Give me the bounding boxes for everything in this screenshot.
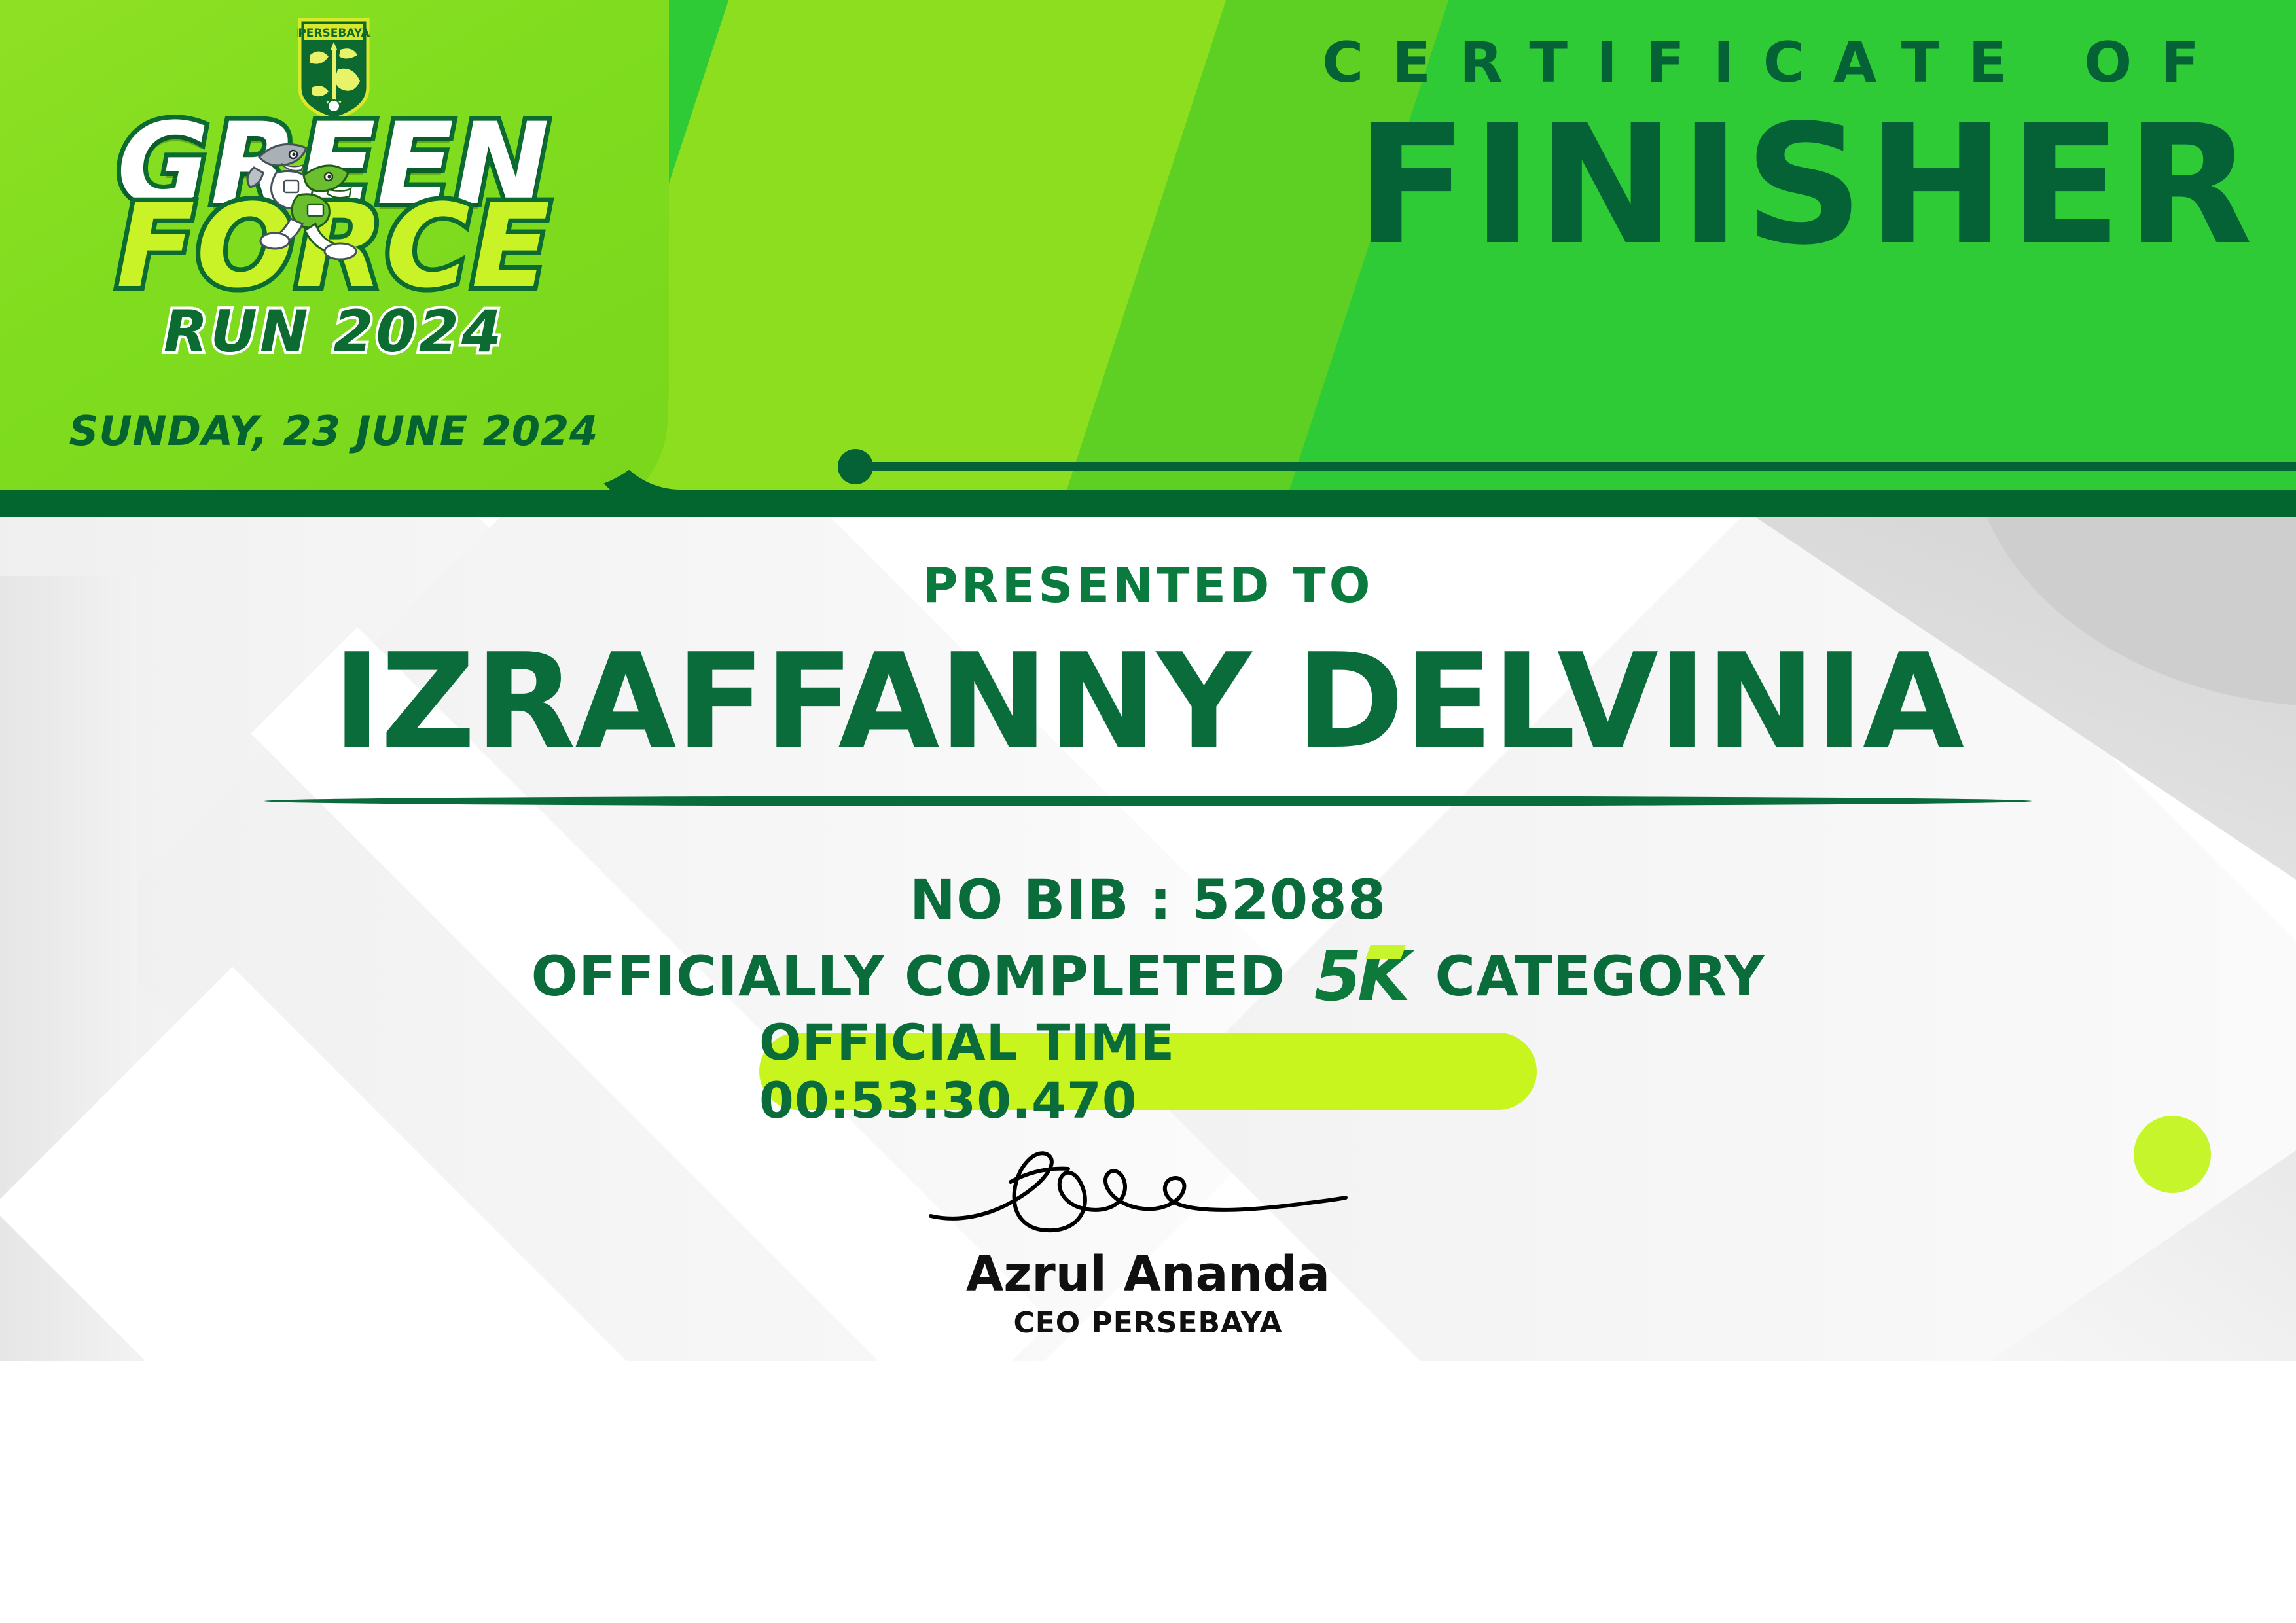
category-suffix-text: CATEGORY (1435, 944, 1765, 1008)
certificate-canvas: CERTIFICATE OF FINISHER PERSEBAYA GREEN … (0, 0, 2296, 1623)
completed-prefix-text: OFFICIALLY COMPLETED (531, 944, 1286, 1008)
header-banner: CERTIFICATE OF FINISHER PERSEBAYA GREEN … (0, 0, 2296, 517)
sponsor-footer (0, 1369, 2296, 1623)
bib-number-line: NO BIB : 52088 (0, 868, 2296, 932)
official-time-pill: OFFICIAL TIME 00:53:30.470 (759, 1033, 1537, 1110)
mascot-icon (230, 116, 381, 267)
presented-to-label: PRESENTED TO (0, 558, 2296, 614)
category-line: OFFICIALLY COMPLETED 5K CATEGORY (0, 942, 2296, 1010)
header-bottom-bar (0, 490, 2296, 517)
signatory-role: CEO PERSEBAYA (821, 1306, 1475, 1340)
decorative-rule (838, 445, 2296, 484)
certificate-title-block: CERTIFICATE OF FINISHER (1322, 30, 2257, 264)
rule-line (868, 462, 2296, 471)
official-time-text: OFFICIAL TIME 00:53:30.470 (759, 1013, 1537, 1130)
signature-icon (919, 1139, 1377, 1250)
event-date: SUNDAY, 23 JUNE 2024 (39, 407, 628, 455)
name-divider (264, 796, 2032, 806)
category-badge-accent (1365, 945, 1406, 959)
certificate-body: PRESENTED TO IZRAFFANNY DELVINIA NO BIB … (0, 517, 2296, 1368)
finisher-title: FINISHER (1322, 107, 2257, 264)
signatory-name: Azrul Ananda (821, 1246, 1475, 1302)
category-badge-5k: 5K (1305, 942, 1415, 1010)
certificate-of-text: CERTIFICATE OF (1322, 30, 2257, 96)
svg-text:PERSEBAYA: PERSEBAYA (296, 27, 371, 40)
recipient-name: IZRAFFANNY DELVINIA (0, 626, 2296, 778)
signature-block: Azrul Ananda CEO PERSEBAYA (821, 1139, 1475, 1340)
